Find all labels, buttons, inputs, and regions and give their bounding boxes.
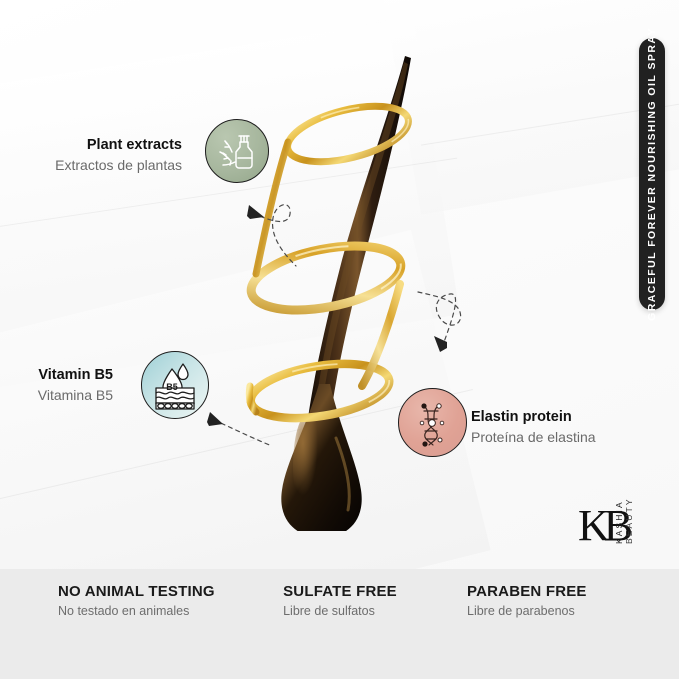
claim-no-animal-testing: NO ANIMAL TESTING No testado en animales (58, 582, 283, 620)
label-elastin-protein: Elastin protein Proteína de elastina (471, 408, 671, 447)
label-plant-extracts: Plant extracts Extractos de plantas (0, 136, 182, 175)
claim-subtitle: Libre de sulfatos (283, 602, 467, 620)
elastin-molecule-icon (399, 389, 466, 456)
claim-sulfate-free: SULFATE FREE Libre de sulfatos (283, 582, 467, 620)
claim-title: NO ANIMAL TESTING (58, 582, 283, 601)
claim-title: PARABEN FREE (467, 582, 649, 601)
claim-paraben-free: PARABEN FREE Libre de parabenos (467, 582, 649, 620)
product-illustration (230, 46, 450, 531)
claims-strip: NO ANIMAL TESTING No testado en animales… (0, 569, 679, 679)
label-plant-extracts-es: Extractos de plantas (0, 155, 182, 175)
label-elastin-protein-es: Proteína de elastina (471, 427, 671, 447)
label-vitamin-b5-es: Vitamina B5 (0, 385, 113, 405)
claim-title: SULFATE FREE (283, 582, 467, 601)
vitamin-b5-icon-text: B5 (166, 382, 178, 392)
badge-vitamin-b5[interactable]: B5 (141, 351, 209, 419)
brand-name-line-2: BEAUTY (624, 497, 634, 544)
brand-logo: KB KASHIA BEAUTY (578, 486, 650, 548)
water-drop-skin-icon: B5 (142, 352, 208, 418)
product-name-tab-text: GRACEFUL FOREVER NOURISHING OIL SPRAY (646, 27, 658, 321)
label-vitamin-b5-en: Vitamin B5 (0, 366, 113, 385)
label-elastin-protein-en: Elastin protein (471, 408, 671, 427)
brand-wordmark: KASHIA BEAUTY (624, 488, 642, 544)
label-vitamin-b5: Vitamin B5 Vitamina B5 (0, 366, 113, 405)
claim-subtitle: No testado en animales (58, 602, 283, 620)
badge-plant-extracts[interactable] (205, 119, 269, 183)
label-plant-extracts-en: Plant extracts (0, 136, 182, 155)
product-infographic: Plant extracts Extractos de plantas Vita… (0, 0, 679, 679)
plant-bottle-icon (206, 120, 268, 182)
product-name-tab: GRACEFUL FOREVER NOURISHING OIL SPRAY (639, 38, 665, 310)
badge-elastin-protein[interactable] (398, 388, 467, 457)
claim-subtitle: Libre de parabenos (467, 602, 649, 620)
brand-name-line-1: KASHIA (614, 500, 624, 544)
